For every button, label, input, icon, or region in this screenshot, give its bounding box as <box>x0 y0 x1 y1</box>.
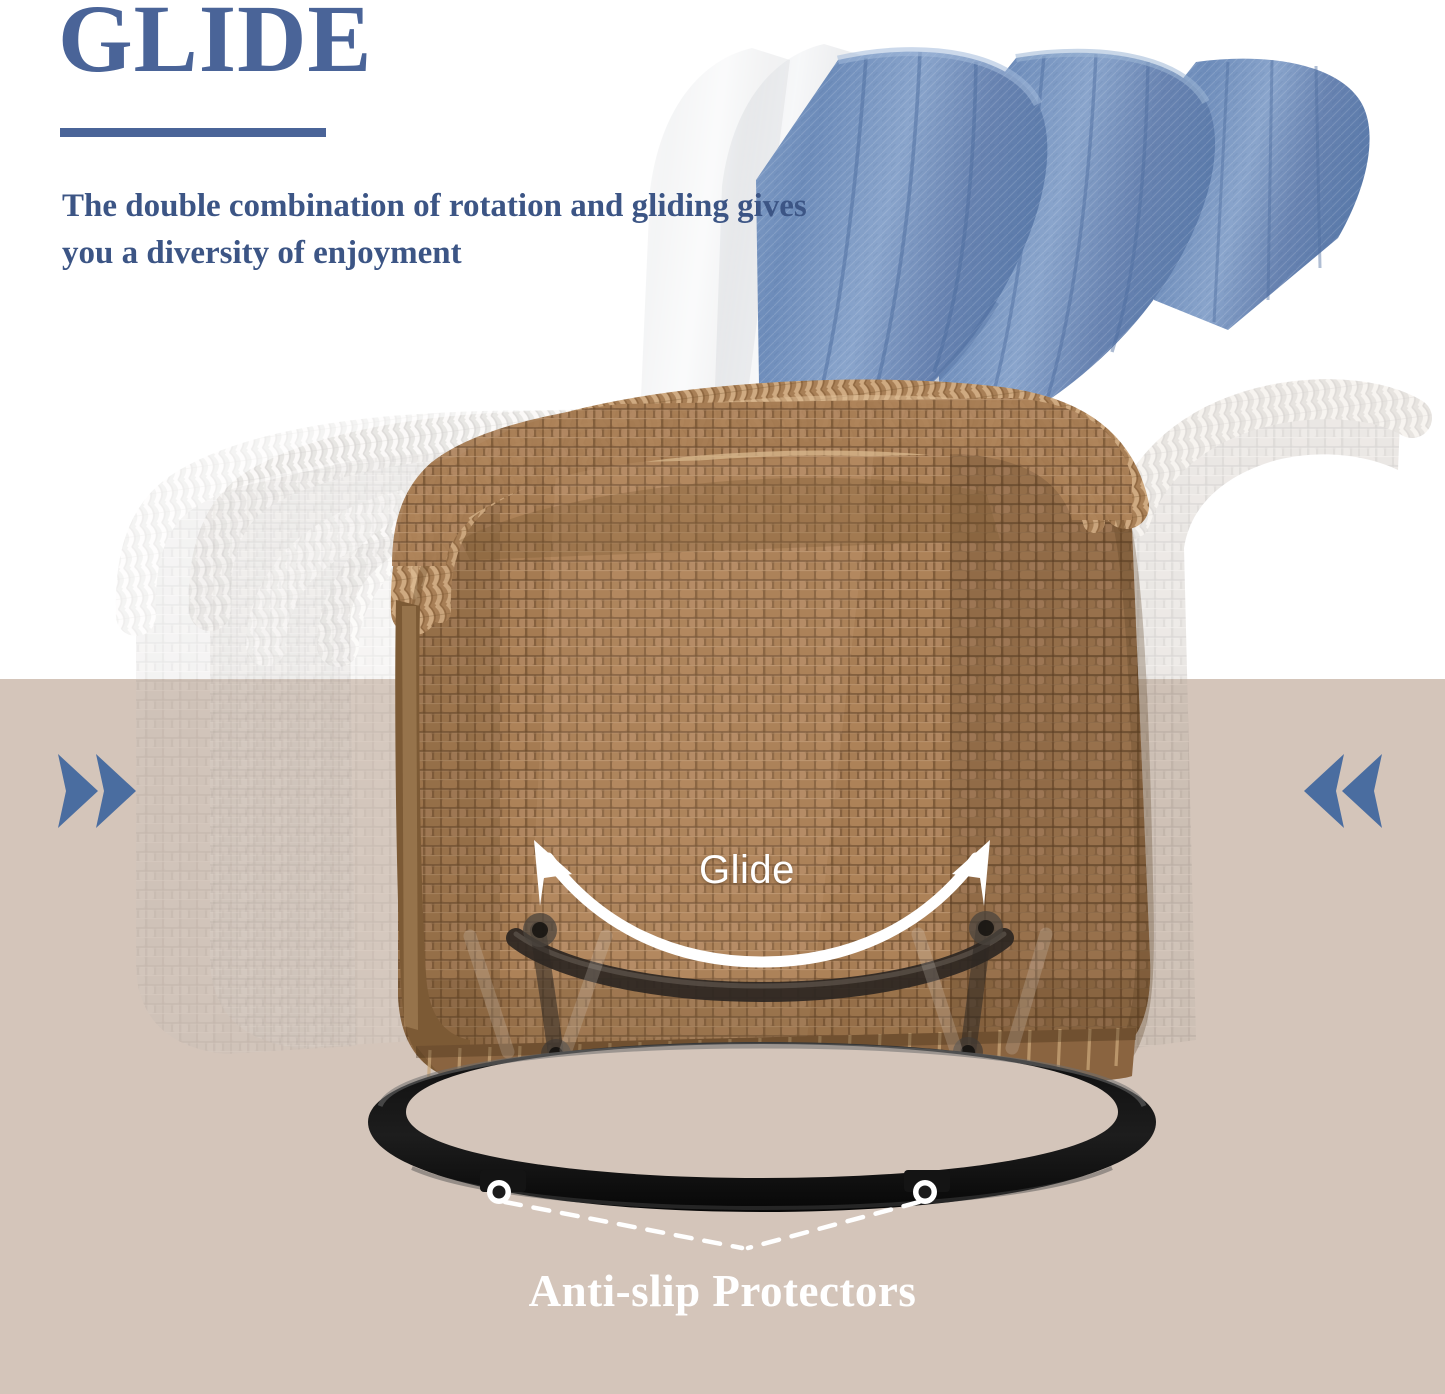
glide-arc-label: Glide <box>699 848 795 893</box>
page-title: GLIDE <box>58 0 372 92</box>
chair-main <box>368 390 1180 1212</box>
swivel-base <box>368 1042 1156 1212</box>
double-chevron-left-icon <box>1300 748 1388 834</box>
double-chevron-right-icon <box>52 748 140 834</box>
title-divider <box>60 128 326 137</box>
anti-slip-caption: Anti-slip Protectors <box>0 1265 1445 1317</box>
product-infographic: GLIDE The double combination of rotation… <box>0 0 1445 1394</box>
page-subtitle: The double combination of rotation and g… <box>62 183 862 277</box>
